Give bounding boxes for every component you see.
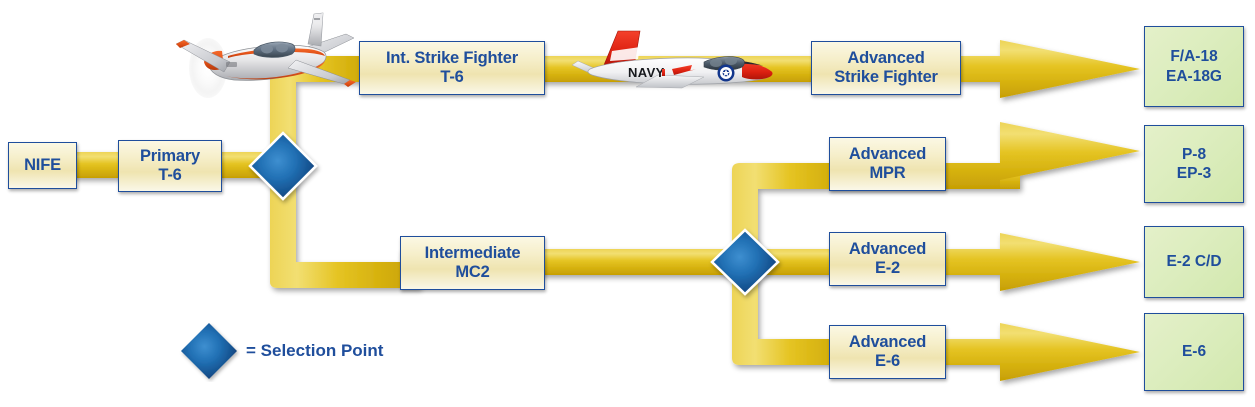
- stage-box-intermediate-mc2[interactable]: Intermediate MC2: [400, 236, 545, 290]
- arrow-to-e2: [930, 233, 1140, 291]
- outcome-box-e2cd[interactable]: E-2 C/D: [1144, 226, 1244, 298]
- stage-label-line1: Advanced: [849, 240, 926, 259]
- arrow-to-e6: [930, 323, 1140, 381]
- stage-label-line1: Advanced: [847, 49, 924, 68]
- stage-label-line2: T-6: [440, 68, 463, 87]
- selection-point-diamond-2[interactable]: [712, 230, 778, 294]
- stage-label-line1: NIFE: [24, 156, 61, 175]
- stage-box-int-strike-fighter[interactable]: Int. Strike Fighter T-6: [359, 41, 545, 95]
- arrow-to-fa18: [930, 40, 1140, 98]
- legend: = Selection Point: [178, 320, 383, 382]
- stage-label-line2: MPR: [869, 164, 905, 183]
- stage-label-line1: Primary: [140, 147, 200, 166]
- outcome-label-line1: P-8: [1182, 145, 1206, 164]
- outcome-label-line1: E-2 C/D: [1166, 252, 1221, 271]
- outcome-box-e6[interactable]: E-6: [1144, 313, 1244, 391]
- arrow-to-p8: [930, 122, 1140, 189]
- outcome-box-p8[interactable]: P-8 EP-3: [1144, 125, 1244, 203]
- outcome-label-line2: EA-18G: [1166, 67, 1222, 86]
- stage-box-advanced-strike-fighter[interactable]: Advanced Strike Fighter: [811, 41, 961, 95]
- t-45-goshawk-aircraft-image: NAVY: [566, 25, 792, 99]
- stage-label-line1: Int. Strike Fighter: [386, 49, 518, 68]
- selection-point-diamond-icon: [178, 320, 240, 382]
- stage-box-nife[interactable]: NIFE: [8, 142, 77, 189]
- stage-label-line2: E-2: [875, 259, 900, 278]
- t-6-texan-ii-aircraft-image: [168, 6, 368, 100]
- stage-box-advanced-mpr[interactable]: Advanced MPR: [829, 137, 946, 191]
- stage-label-line2: E-6: [875, 352, 900, 371]
- stage-label-line1: Advanced: [849, 333, 926, 352]
- selection-point-diamond-1[interactable]: [250, 133, 316, 199]
- outcome-label-line2: EP-3: [1177, 164, 1211, 183]
- outcome-label-line1: E-6: [1182, 342, 1206, 361]
- legend-label: = Selection Point: [246, 341, 383, 361]
- stage-box-primary[interactable]: Primary T-6: [118, 140, 222, 192]
- svg-text:NAVY: NAVY: [628, 65, 665, 80]
- training-pipeline-diagram: NIFE Primary T-6 Int. Strike Fighter T-6…: [0, 0, 1255, 407]
- outcome-box-fa18[interactable]: F/A-18 EA-18G: [1144, 26, 1244, 107]
- stage-box-advanced-e6[interactable]: Advanced E-6: [829, 325, 946, 379]
- outcome-label-line1: F/A-18: [1170, 47, 1217, 66]
- stage-label-line1: Advanced: [849, 145, 926, 164]
- stage-label-line2: MC2: [455, 263, 489, 282]
- stage-box-advanced-e2[interactable]: Advanced E-2: [829, 232, 946, 286]
- stage-label-line1: Intermediate: [425, 244, 521, 263]
- stage-label-line2: Strike Fighter: [834, 68, 938, 87]
- stage-label-line2: T-6: [158, 166, 181, 185]
